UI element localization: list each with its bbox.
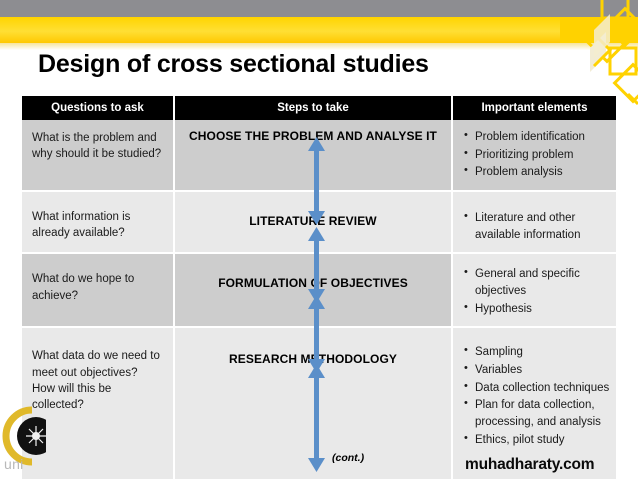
list-item: Data collection techniques [475, 380, 610, 397]
cell-question: What do we hope to achieve? [22, 253, 174, 327]
cell-step: FORMULATION OF OBJECTIVES [174, 253, 452, 327]
design-steps-table: Questions to ask Steps to take Important… [22, 96, 616, 479]
list-item: Plan for data collection, processing, an… [475, 397, 610, 430]
question-text: What information is already available? [22, 192, 173, 250]
list-item: Ethics, pilot study [475, 432, 610, 449]
list-item: Hypothesis [475, 301, 610, 318]
page-title: Design of cross sectional studies [38, 50, 429, 79]
step-text: RESEARCH METHODOLOGY [175, 328, 451, 366]
slide-canvas: Design of cross sectional studies Questi… [0, 0, 638, 479]
table-row: What is the problem and why should it be… [22, 120, 616, 191]
list-item: Problem analysis [475, 164, 610, 181]
cell-step: CHOOSE THE PROBLEM AND ANALYSE IT [174, 120, 452, 191]
cell-question: What is the problem and why should it be… [22, 120, 174, 191]
list-item: Literature and other available informati… [475, 210, 610, 243]
table-row: What do we hope to achieve? FORMULATION … [22, 253, 616, 327]
column-header-elements: Important elements [452, 96, 616, 120]
list-item: Sampling [475, 344, 610, 361]
elements-list: General and specific objectives Hypothes… [453, 254, 616, 326]
column-header-questions: Questions to ask [22, 96, 174, 120]
watermark: muhadharaty.com [465, 456, 594, 474]
column-header-steps: Steps to take [174, 96, 452, 120]
question-text: What is the problem and why should it be… [22, 120, 173, 171]
step-text: LITERATURE REVIEW [175, 192, 451, 228]
list-item: Prioritizing problem [475, 147, 610, 164]
cell-elements: Problem identification Prioritizing prob… [452, 120, 616, 191]
cell-step: RESEARCH METHODOLOGY [174, 327, 452, 479]
cell-elements: Literature and other available informati… [452, 191, 616, 253]
top-gray-band [0, 0, 638, 17]
logo-wordmark: uni [4, 456, 24, 472]
step-text: FORMULATION OF OBJECTIVES [175, 254, 451, 290]
table-row: What information is already available? L… [22, 191, 616, 253]
cell-elements: General and specific objectives Hypothes… [452, 253, 616, 327]
continued-label: (cont.) [332, 452, 364, 464]
list-item: Variables [475, 362, 610, 379]
top-band-fade [0, 43, 638, 50]
cell-step: LITERATURE REVIEW [174, 191, 452, 253]
step-text: CHOOSE THE PROBLEM AND ANALYSE IT [175, 120, 451, 143]
top-yellow-sheen [0, 17, 560, 43]
list-item: Problem identification [475, 129, 610, 146]
list-item: General and specific objectives [475, 266, 610, 299]
elements-list: Sampling Variables Data collection techn… [453, 328, 616, 457]
elements-list: Problem identification Prioritizing prob… [453, 120, 616, 190]
elements-list: Literature and other available informati… [453, 192, 616, 252]
table-header-row: Questions to ask Steps to take Important… [22, 96, 616, 120]
question-text: What do we hope to achieve? [22, 254, 173, 312]
cell-question: What information is already available? [22, 191, 174, 253]
